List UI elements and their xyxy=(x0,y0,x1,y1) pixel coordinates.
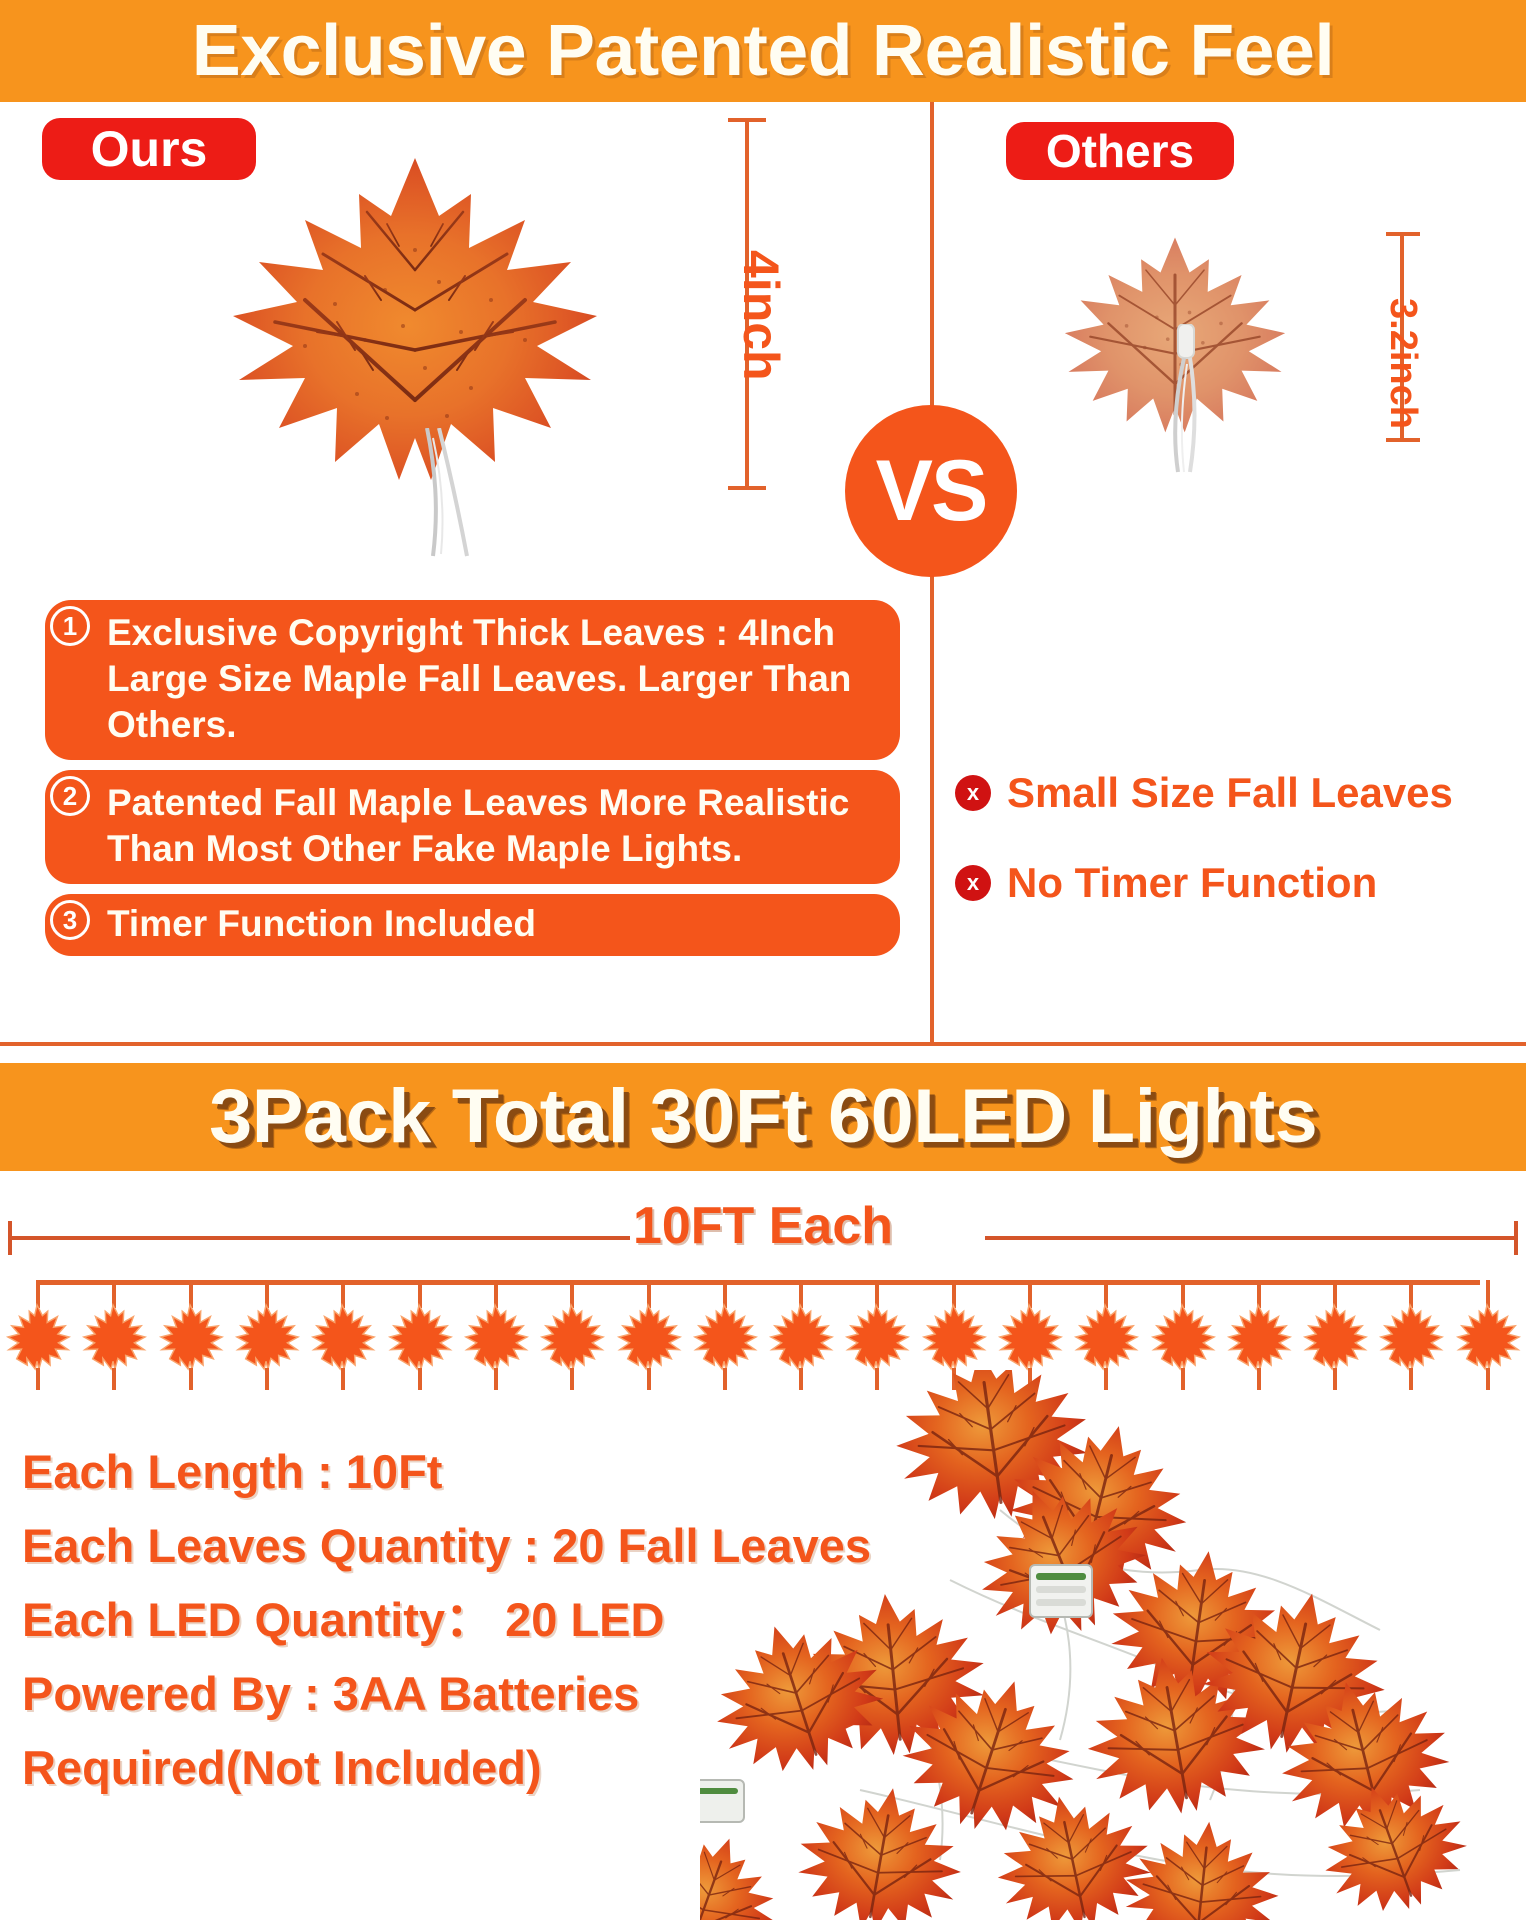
pro-text: Timer Function Included xyxy=(45,894,900,956)
maple-leaf-icon xyxy=(1226,1302,1292,1372)
pro-item: 2 Patented Fall Maple Leaves More Realis… xyxy=(45,770,900,884)
strand-stem-bottom xyxy=(418,1368,422,1390)
maple-leaf-icon xyxy=(310,1302,376,1372)
strand-stem-bottom xyxy=(189,1368,193,1390)
ours-dimension-cap-top xyxy=(728,118,766,122)
maple-leaf-icon xyxy=(844,1302,910,1372)
maple-leaf-icon xyxy=(1378,1302,1444,1372)
strand-leaf-cell xyxy=(305,1272,381,1390)
strand-stem-bottom xyxy=(112,1368,116,1390)
strand-stem-bottom xyxy=(36,1368,40,1390)
strand-stem-bottom xyxy=(341,1368,345,1390)
strand-stem-bottom xyxy=(647,1368,651,1390)
maple-leaf-icon xyxy=(387,1302,453,1372)
pro-text: Patented Fall Maple Leaves More Realisti… xyxy=(45,770,900,884)
others-dimension-cap-bottom xyxy=(1386,438,1420,442)
maple-leaf-icon xyxy=(1302,1302,1368,1372)
strand-stem-bottom xyxy=(494,1368,498,1390)
battery-box-icon-2 xyxy=(700,1780,744,1822)
maple-leaf-icon xyxy=(463,1302,529,1372)
con-text: No Timer Function xyxy=(1007,860,1377,906)
pros-list: 1 Exclusive Copyright Thick Leaves : 4In… xyxy=(45,600,900,966)
pro-text: Exclusive Copyright Thick Leaves : 4Inch… xyxy=(45,600,900,760)
pro-item: 3 Timer Function Included xyxy=(45,894,900,956)
strand-leaf-cell xyxy=(229,1272,305,1390)
x-circle-icon: x xyxy=(955,865,991,901)
product-photo xyxy=(700,1370,1526,1920)
ours-badge: Ours xyxy=(42,118,256,180)
strand-leaf-cell xyxy=(458,1272,534,1390)
con-item: x No Timer Function xyxy=(955,860,1515,906)
product-leaves-svg xyxy=(700,1370,1526,1920)
maple-leaf-icon xyxy=(921,1302,987,1372)
strand-leaf-cell xyxy=(610,1272,686,1390)
maple-leaf-icon xyxy=(692,1302,758,1372)
ours-leaf-photo xyxy=(225,150,605,490)
strand-leaf-cell xyxy=(381,1272,457,1390)
mid-banner: 3Pack Total 30Ft 60LED Lights xyxy=(0,1063,1526,1171)
battery-box-icon xyxy=(1030,1565,1092,1617)
maple-leaf-icon xyxy=(1150,1302,1216,1372)
others-leaf-photo xyxy=(1060,228,1290,443)
ours-dimension-label: 4inch xyxy=(732,250,790,381)
maple-leaf-icon xyxy=(158,1302,224,1372)
top-banner: Exclusive Patented Realistic Feel xyxy=(0,0,1526,102)
pro-item: 1 Exclusive Copyright Thick Leaves : 4In… xyxy=(45,600,900,760)
pro-number-badge: 2 xyxy=(50,776,90,816)
strand-length-label: 10FT Each xyxy=(0,1196,1526,1256)
ours-led-wire xyxy=(375,428,515,558)
maple-leaf-icon xyxy=(5,1302,71,1372)
strand-leaf-cell xyxy=(534,1272,610,1390)
ours-dimension-cap-bottom xyxy=(728,486,766,490)
strand-stem-bottom xyxy=(570,1368,574,1390)
horizontal-divider xyxy=(0,1042,1526,1046)
con-item: x Small Size Fall Leaves xyxy=(955,770,1515,816)
strand-leaf-cell xyxy=(153,1272,229,1390)
strand-stem-bottom xyxy=(265,1368,269,1390)
maple-leaf-icon xyxy=(997,1302,1063,1372)
top-banner-title: Exclusive Patented Realistic Feel xyxy=(192,15,1334,87)
maple-leaf-icon xyxy=(616,1302,682,1372)
pro-number-badge: 1 xyxy=(50,606,90,646)
mid-banner-title: 3Pack Total 30Ft 60LED Lights xyxy=(209,1079,1317,1155)
strand-leaf-cell xyxy=(76,1272,152,1390)
others-dimension-cap-top xyxy=(1386,232,1420,236)
maple-leaf-icon xyxy=(1455,1302,1521,1372)
maple-leaf-icon xyxy=(234,1302,300,1372)
others-dimension-label: 3.2inch xyxy=(1381,298,1424,429)
maple-leaf-icon xyxy=(768,1302,834,1372)
infographic-page: Exclusive Patented Realistic Feel Ours O… xyxy=(0,0,1526,1920)
con-text: Small Size Fall Leaves xyxy=(1007,770,1453,816)
maple-leaf-icon xyxy=(1073,1302,1139,1372)
others-badge: Others xyxy=(1006,122,1234,180)
vs-badge: VS xyxy=(845,405,1017,577)
maple-leaf-icon xyxy=(81,1302,147,1372)
x-circle-icon: x xyxy=(955,775,991,811)
pro-number-badge: 3 xyxy=(50,900,90,940)
others-led-bulb xyxy=(1156,324,1226,474)
cons-list: x Small Size Fall Leaves x No Timer Func… xyxy=(955,770,1515,950)
maple-leaf-icon xyxy=(539,1302,605,1372)
strand-length-dimension: 10FT Each xyxy=(0,1196,1526,1266)
strand-leaf-cell xyxy=(0,1272,76,1390)
